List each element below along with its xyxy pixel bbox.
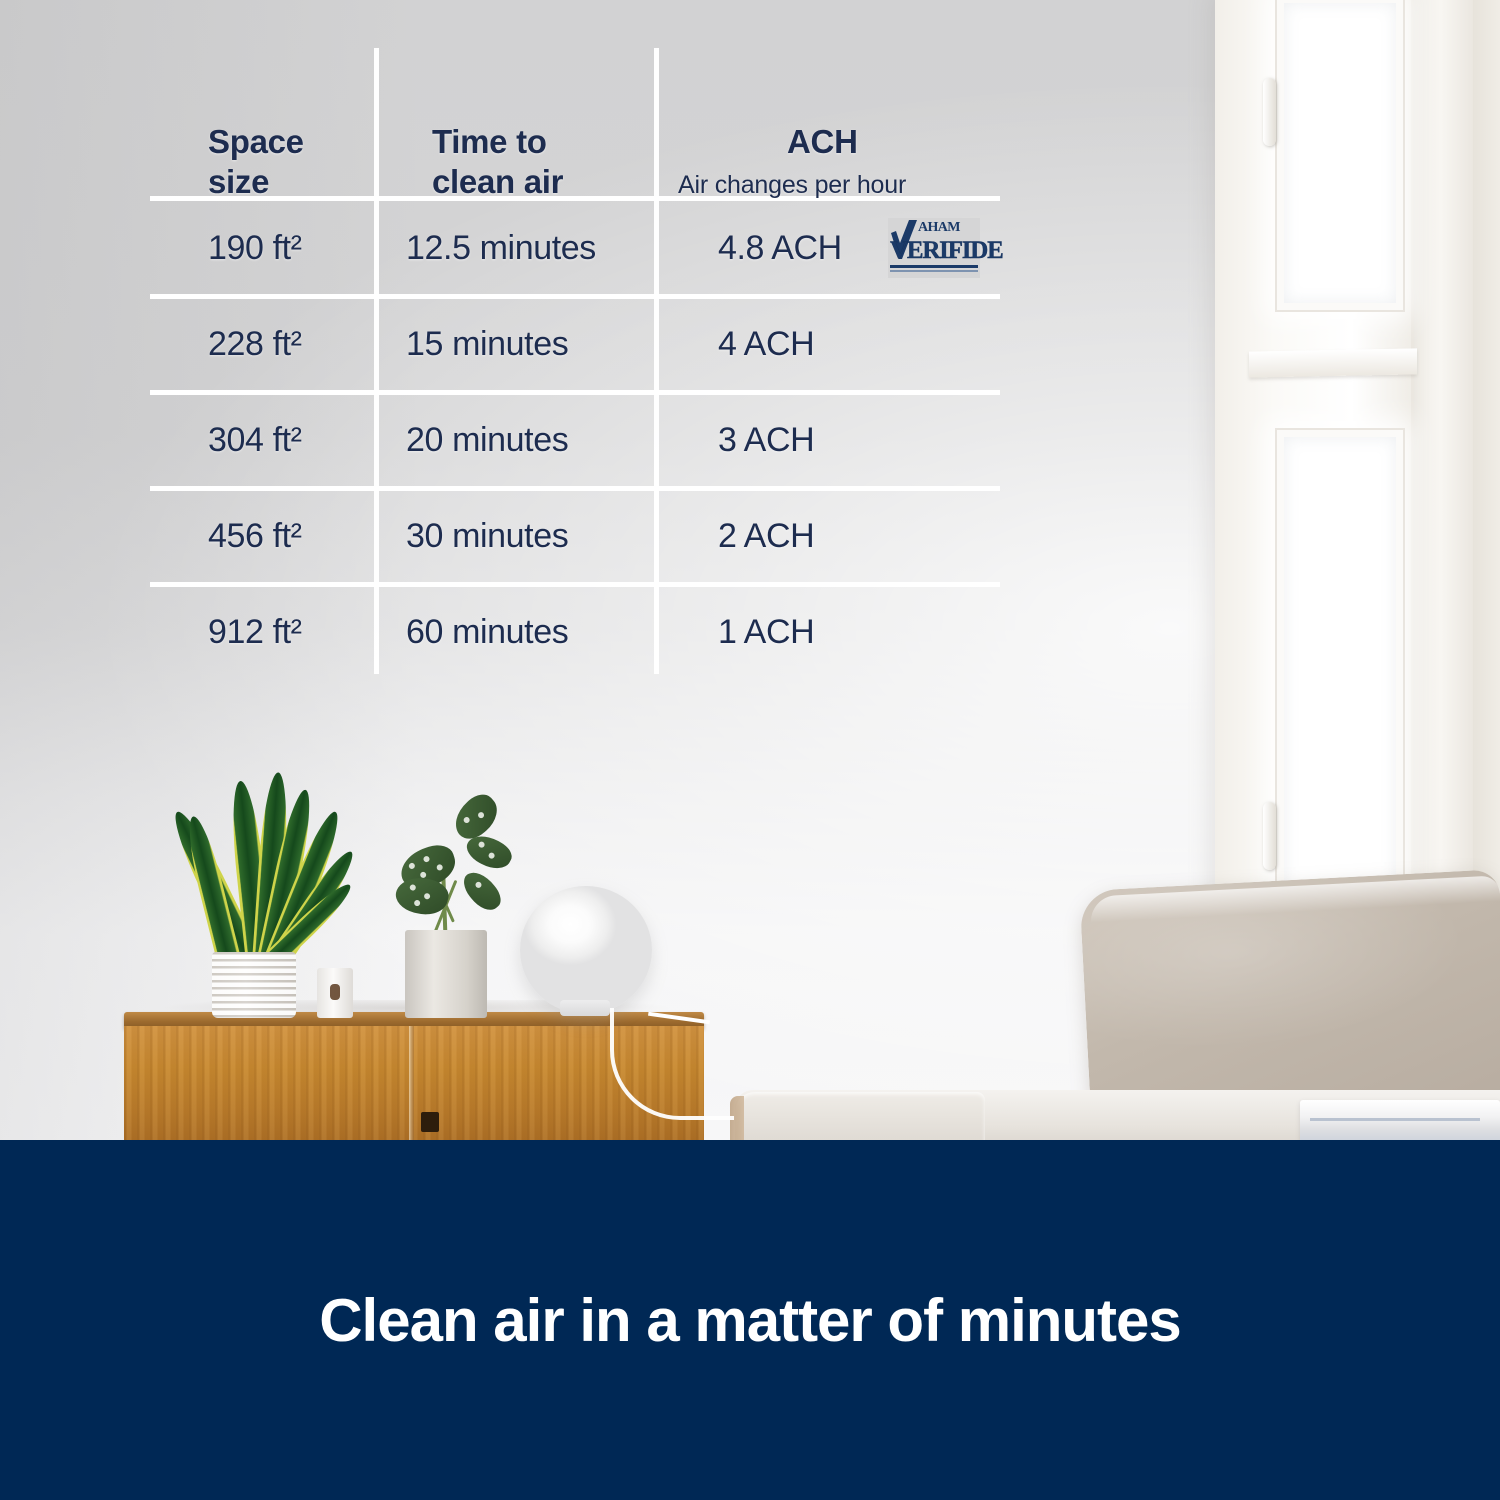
aham-verifide-badge: AHAM VERIFIDE [888,218,980,278]
table-row-rule-4 [150,582,1000,587]
table-column-divider-2 [654,48,659,674]
cell-space-1: 190 ft² [208,228,302,268]
cell-time-4: 30 minutes [406,516,568,556]
cell-time-3: 20 minutes [406,420,568,460]
window-handle-lower [1263,802,1276,870]
sideboard-latch [421,1112,439,1132]
aham-main-text: VERIFIDE [890,238,978,264]
cell-ach-4: 2 ACH [718,516,814,556]
sofa-arm [735,1092,985,1140]
banner-headline: Clean air in a matter of minutes [319,1286,1181,1355]
cell-space-4: 456 ft² [208,516,302,556]
snake-plant-pot [212,952,296,1018]
cell-ach-2: 4 ACH [718,324,814,364]
window-reveal [1473,0,1500,980]
sideboard-door-seam [409,1026,414,1140]
cell-time-1: 12.5 minutes [406,228,596,268]
cell-time-5: 60 minutes [406,612,568,652]
table-row-rule-3 [150,486,1000,491]
specs-table: Space size Time to clean air ACH Air cha… [150,46,1000,674]
header-time-line1: Time to [432,122,547,162]
window [1215,0,1500,990]
cell-space-5: 912 ft² [208,612,302,652]
cell-space-2: 228 ft² [208,324,302,364]
header-time-line2: clean air [432,162,563,202]
globe-lamp [520,886,652,1014]
bottom-banner: Clean air in a matter of minutes [0,1140,1500,1500]
cell-time-2: 15 minutes [406,324,568,364]
header-ach-subtitle: Air changes per hour [678,170,906,200]
header-space-line2: size [208,162,269,202]
promo-image: Space size Time to clean air ACH Air cha… [0,0,1500,1500]
header-ach-title: ACH [787,122,858,162]
aham-rule-1 [890,265,978,268]
begonia-pot [405,930,487,1018]
books-edge-line [1310,1118,1480,1121]
window-mid-rail [1249,348,1417,377]
header-space-line1: Space [208,122,304,162]
table-row-rule-2 [150,390,1000,395]
aham-top-text: AHAM [918,220,960,235]
lamp-base [560,1000,610,1016]
aham-rule-2 [890,270,978,272]
cell-space-3: 304 ft² [208,420,302,460]
small-object-detail [330,984,340,1000]
window-handle-upper [1263,78,1276,146]
table-row-rule-1 [150,294,1000,299]
cell-ach-5: 1 ACH [718,612,814,652]
window-pane-upper [1277,0,1403,310]
cell-ach-1: 4.8 ACH [718,228,842,268]
cell-ach-3: 3 ACH [718,420,814,460]
window-jamb [1411,0,1477,981]
table-column-divider-1 [374,48,379,674]
